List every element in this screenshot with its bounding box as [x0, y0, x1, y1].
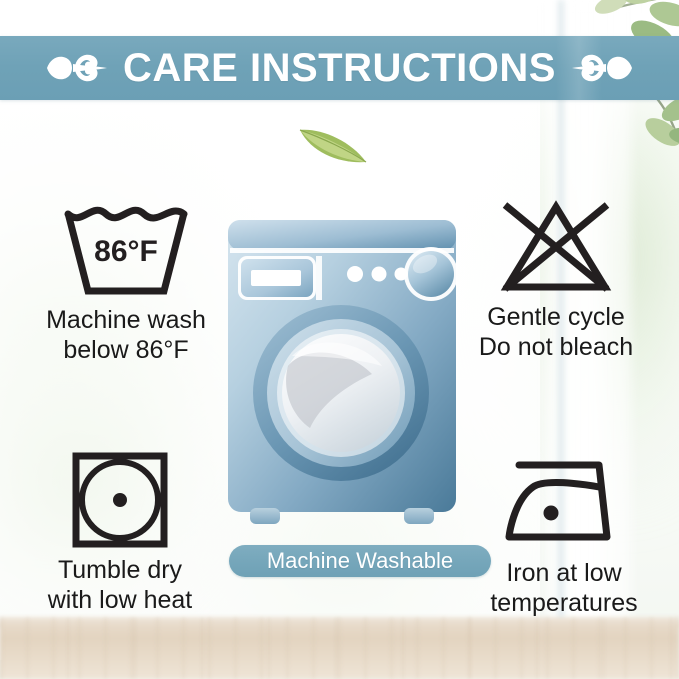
do-not-bleach-caption-line2: Do not bleach	[438, 332, 674, 362]
tumble-dry-caption-line1: Tumble dry	[14, 555, 226, 585]
machine-wash-caption-line1: Machine wash	[12, 305, 240, 335]
tumble-dry-icon-box	[14, 445, 226, 555]
machine-foot-left	[250, 508, 280, 524]
care-symbol-tumble-dry: Tumble dry with low heat	[14, 445, 226, 615]
fleur-de-lis-icon-right	[570, 46, 634, 90]
wash-basin-icon: 86°F	[60, 199, 192, 301]
wash-temperature-value: 86°F	[94, 235, 158, 268]
machine-foot-right	[404, 508, 434, 524]
header-banner: CARE INSTRUCTIONS	[0, 36, 679, 100]
machine-wash-caption-line2: below 86°F	[12, 335, 240, 365]
page-title: CARE INSTRUCTIONS	[123, 48, 556, 88]
machine-top-panel	[228, 220, 456, 250]
tumble-dry-caption-line2: with low heat	[14, 585, 226, 615]
indicator-dot-1	[347, 266, 363, 282]
machine-wash-icon-box: 86°F	[12, 195, 240, 305]
care-symbol-do-not-bleach: Gentle cycle Do not bleach	[438, 192, 674, 362]
indicator-dot-2	[372, 267, 387, 282]
iron-caption-line2: temperatures	[452, 588, 676, 618]
care-instructions-infographic: CARE INSTRUCTIONS 86°F Machine wash belo…	[0, 0, 679, 679]
triangle-crossed-out-icon	[493, 197, 619, 297]
single-green-leaf-icon	[296, 120, 370, 168]
detergent-drawer	[238, 256, 316, 300]
drawer-divider	[316, 256, 322, 300]
do-not-bleach-caption-line1: Gentle cycle	[438, 302, 674, 332]
machine-washable-badge: Machine Washable	[229, 545, 491, 577]
machine-door	[253, 305, 429, 481]
fleur-de-lis-icon-left	[45, 46, 109, 90]
iron-one-dot-icon	[503, 457, 625, 549]
machine-washable-badge-label: Machine Washable	[267, 550, 453, 572]
control-dial	[404, 247, 458, 301]
do-not-bleach-icon-box	[438, 192, 674, 302]
tumble-dry-low-icon	[70, 450, 170, 550]
wood-grain-texture	[0, 617, 679, 679]
care-symbol-machine-wash: 86°F Machine wash below 86°F	[12, 195, 240, 365]
washing-machine-illustration	[226, 206, 458, 536]
care-symbol-iron-low: Iron at low temperatures	[452, 448, 676, 618]
iron-icon-box	[452, 448, 676, 558]
